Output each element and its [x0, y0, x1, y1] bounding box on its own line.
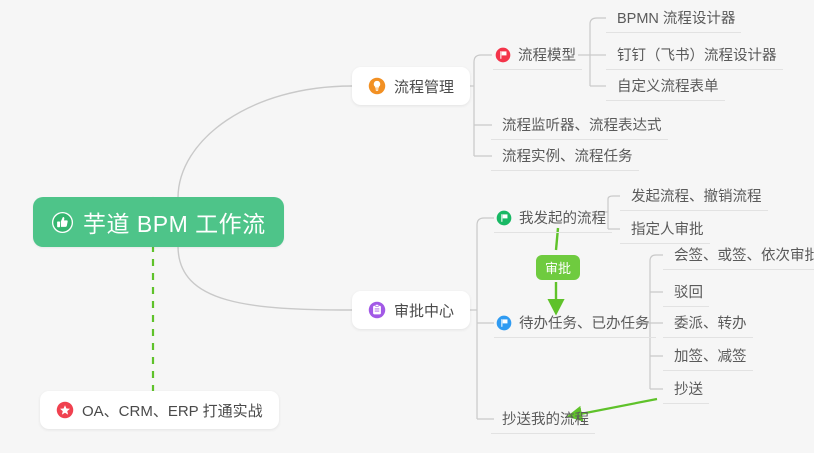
node-process-model[interactable]: 流程模型	[493, 40, 582, 70]
node-my-initiated-process[interactable]: 我发起的流程	[494, 203, 612, 233]
node-my-initiated-process-label: 我发起的流程	[519, 207, 606, 228]
node-designated-approver-label: 指定人审批	[631, 218, 704, 239]
connector-todo-to-counter	[650, 255, 663, 261]
branch-process-management-label: 流程管理	[394, 76, 454, 97]
node-oa-crm-erp[interactable]: OA、CRM、ERP 打通实战	[40, 391, 279, 429]
node-cc[interactable]: 抄送	[663, 374, 709, 404]
connector-root-to-approval-center	[178, 246, 352, 310]
node-countersign-or-sequential-label: 会签、或签、依次审批	[674, 244, 814, 265]
node-bpmn-designer[interactable]: BPMN 流程设计器	[606, 3, 741, 33]
node-custom-process-form[interactable]: 自定义流程表单	[606, 71, 725, 101]
node-reject[interactable]: 驳回	[663, 277, 709, 307]
star-circle-red-icon	[56, 401, 74, 419]
connector-mine-to-start	[608, 196, 620, 199]
node-process-listener-expression[interactable]: 流程监听器、流程表达式	[491, 110, 668, 140]
node-process-instance-task-label: 流程实例、流程任务	[502, 145, 633, 166]
node-reject-label: 驳回	[674, 281, 703, 302]
node-todo-done-tasks-label: 待办任务、已办任务	[519, 312, 650, 333]
flag-circle-red-icon	[495, 47, 511, 63]
node-start-cancel-process[interactable]: 发起流程、撤销流程	[620, 181, 768, 211]
branch-approval-center-label: 审批中心	[394, 300, 454, 321]
root-node-label: 芋道 BPM 工作流	[83, 205, 266, 239]
node-process-model-label: 流程模型	[518, 44, 576, 65]
clipboard-circle-purple-icon	[368, 301, 386, 319]
root-node[interactable]: 芋道 BPM 工作流	[33, 197, 284, 247]
node-custom-process-form-label: 自定义流程表单	[617, 75, 719, 96]
node-dingtalk-feishu-designer-label: 钉钉（飞书）流程设计器	[617, 44, 777, 65]
approval-flow-badge[interactable]: 审批	[536, 255, 580, 280]
node-bpmn-designer-label: BPMN 流程设计器	[617, 7, 735, 28]
node-oa-crm-erp-label: OA、CRM、ERP 打通实战	[82, 400, 263, 421]
connector-ac-to-mine	[477, 218, 494, 225]
node-dingtalk-feishu-designer[interactable]: 钉钉（飞书）流程设计器	[606, 40, 783, 70]
branch-process-management[interactable]: 流程管理	[352, 67, 470, 105]
node-start-cancel-process-label: 发起流程、撤销流程	[631, 185, 762, 206]
node-process-listener-expression-label: 流程监听器、流程表达式	[502, 114, 662, 135]
node-add-remove-sign-label: 加签、减签	[674, 345, 747, 366]
node-add-remove-sign[interactable]: 加签、减签	[663, 341, 753, 371]
flag-circle-green-icon	[496, 210, 512, 226]
node-cc-to-me-process[interactable]: 抄送我的流程	[491, 404, 595, 434]
lightbulb-circle-icon	[368, 77, 386, 95]
node-process-instance-task[interactable]: 流程实例、流程任务	[491, 141, 639, 171]
node-delegate-transfer[interactable]: 委派、转办	[663, 308, 753, 338]
connector-root-to-process-management	[178, 86, 352, 198]
node-cc-to-me-process-label: 抄送我的流程	[502, 408, 589, 429]
connector-model-to-bpmn	[590, 18, 606, 24]
flag-circle-blue-icon	[496, 315, 512, 331]
node-countersign-or-sequential[interactable]: 会签、或签、依次审批	[663, 240, 814, 270]
node-delegate-transfer-label: 委派、转办	[674, 312, 747, 333]
mindmap-canvas: 芋道 BPM 工作流 流程管理 流程模型 BPMN 流程设计器 钉钉（飞书）流程	[0, 0, 814, 453]
branch-approval-center[interactable]: 审批中心	[352, 291, 470, 329]
thumbs-up-circle-icon	[51, 211, 74, 234]
connector-pm-to-model	[474, 55, 492, 62]
approval-flow-badge-label: 审批	[545, 258, 571, 277]
node-cc-label: 抄送	[674, 378, 703, 399]
node-todo-done-tasks[interactable]: 待办任务、已办任务	[494, 308, 656, 338]
